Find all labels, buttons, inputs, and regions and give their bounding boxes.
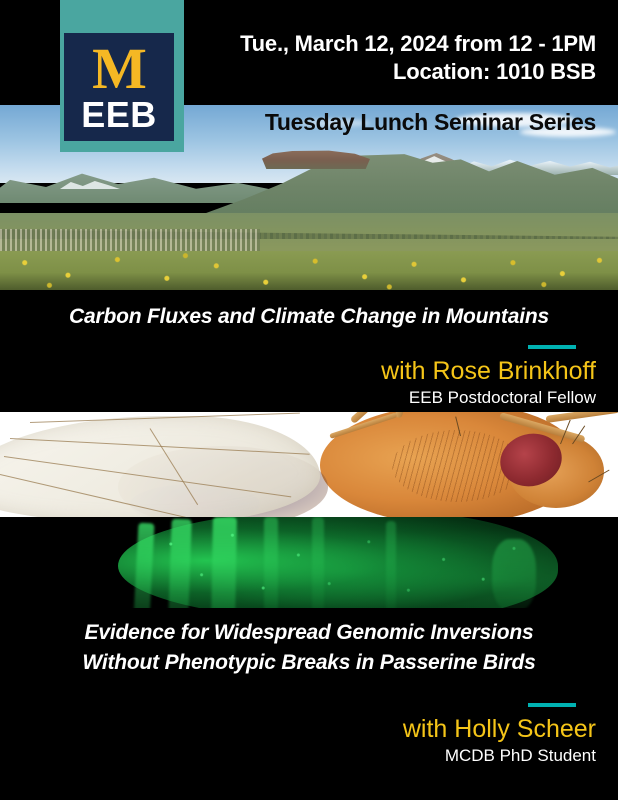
event-details: Tue., March 12, 2024 from 12 - 1PM Locat… (240, 30, 596, 86)
event-date: Tue., March 12, 2024 from 12 - 1PM (240, 30, 596, 58)
block-m-icon: M (64, 40, 174, 98)
talk-1-speaker: with Rose Brinkhoff EEB Postdoctoral Fel… (381, 357, 596, 408)
talk-1-speaker-name: with Rose Brinkhoff (381, 357, 596, 387)
talk-1-title: Carbon Fluxes and Climate Change in Moun… (0, 302, 618, 332)
aspen-grove-region (0, 229, 260, 251)
fly-wing-shape (0, 416, 320, 517)
talk-2-title: Evidence for Widespread Genomic Inversio… (0, 618, 618, 679)
fly-leg-shape (546, 412, 618, 423)
fluorescence-microscopy-image (0, 517, 618, 608)
talk-2-accent-dash (528, 703, 576, 707)
talk-2-speaker: with Holly Scheer MCDB PhD Student (403, 715, 596, 766)
logo-department-label: EEB (64, 97, 174, 133)
talk-1-accent-dash (528, 345, 576, 349)
talk-2-speaker-name: with Holly Scheer (403, 715, 596, 745)
talk-1-speaker-role: EEB Postdoctoral Fellow (381, 387, 596, 408)
seminar-poster: Tue., March 12, 2024 from 12 - 1PM Locat… (0, 0, 618, 800)
talk-1-title-line-1: Carbon Fluxes and Climate Change in Moun… (0, 302, 618, 332)
talk-block-2: Evidence for Widespread Genomic Inversio… (0, 618, 618, 679)
talk-2-speaker-role: MCDB PhD Student (403, 745, 596, 766)
wildflower-meadow-region (0, 251, 618, 290)
talk-block-1: Carbon Fluxes and Climate Change in Moun… (0, 302, 618, 332)
event-location: Location: 1010 BSB (240, 58, 596, 86)
fluorescent-speckle-texture (118, 517, 558, 608)
drosophila-fly-image (0, 412, 618, 517)
talk-2-title-line-2: Without Phenotypic Breaks in Passerine B… (0, 648, 618, 678)
series-title: Tuesday Lunch Seminar Series (265, 109, 596, 136)
talk-2-title-line-1: Evidence for Widespread Genomic Inversio… (0, 618, 618, 648)
